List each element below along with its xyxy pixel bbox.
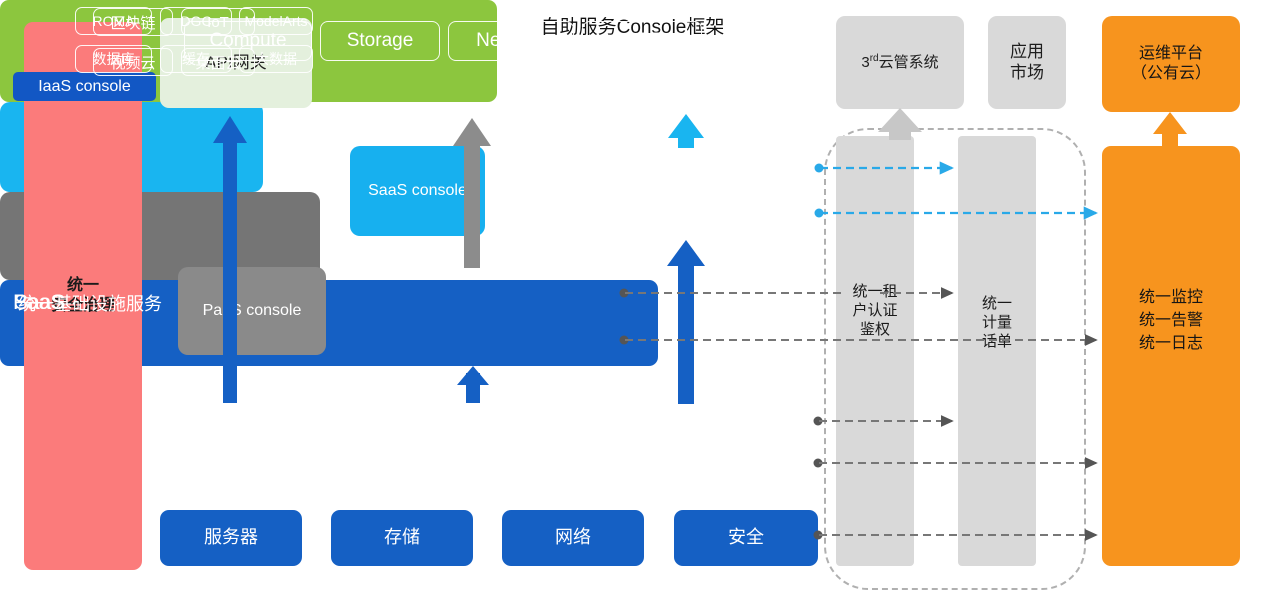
iaas-console-button[interactable]: IaaS console: [13, 72, 156, 101]
infra-tag-compute: Compute: [184, 21, 312, 61]
third-party-superscript: rd: [870, 53, 879, 64]
third-party-label: 3rd云管系统: [861, 53, 938, 72]
tenant-auth-line-3: 鉴权: [852, 320, 897, 339]
paas-tag-roma: ROMA: [75, 7, 152, 35]
app-market-line-1: 应用: [1010, 42, 1044, 63]
metering-line-3: 话单: [982, 332, 1012, 351]
paas-console-button[interactable]: PaaS console: [178, 267, 326, 355]
saas-console-button[interactable]: SaaS console: [350, 146, 485, 236]
orange-up-arrow-to-ops-platform: [1153, 112, 1187, 148]
paas-tag-database: 数据库: [75, 45, 152, 73]
third-party-cloud-management-box: 3rd云管系统: [836, 16, 964, 109]
blue-up-arrow-infra-to-paas: [457, 366, 489, 403]
monitor-line-1: 统一监控: [1139, 286, 1203, 309]
ops-platform-box: 运维平台 （公有云）: [1102, 16, 1240, 112]
architecture-diagram: 统一 安全治理 API网关 自助服务Console框架 IaaS console…: [0, 0, 1265, 605]
app-market-line-2: 市场: [1010, 63, 1044, 84]
cyan-up-arrow-saas-to-console: [668, 114, 704, 148]
ops-platform-line-1: 运维平台: [1131, 44, 1211, 64]
unified-metering-billing-column: 统一 计量 话单: [958, 136, 1036, 566]
metering-line-1: 统一: [982, 294, 1012, 313]
hardware-box-storage: 存储: [331, 510, 473, 566]
hardware-box-security: 安全: [674, 510, 818, 566]
infra-tag-network: Network: [448, 21, 574, 61]
infrastructure-label: 统一基础设施服务: [18, 290, 162, 316]
hardware-box-network: 网络: [502, 510, 644, 566]
tenant-auth-line-2: 户认证: [852, 301, 897, 320]
infra-tag-cce: CCE: [582, 21, 702, 61]
infra-tag-storage: Storage: [320, 21, 440, 61]
blue-up-arrow-infra-to-saas: [667, 240, 705, 404]
app-market-box: 应用 市场: [988, 16, 1066, 109]
tenant-auth-line-1: 统一租: [852, 282, 897, 301]
unified-tenant-auth-column: 统一租 户认证 鉴权: [836, 136, 914, 566]
third-party-rest: 云管系统: [879, 54, 939, 71]
monitor-line-3: 统一日志: [1139, 332, 1203, 355]
metering-line-2: 计量: [982, 313, 1012, 332]
third-party-prefix: 3: [861, 54, 869, 71]
hardware-box-server: 服务器: [160, 510, 302, 566]
unified-monitoring-column: 统一监控 统一告警 统一日志: [1102, 146, 1240, 566]
ops-platform-line-2: （公有云）: [1131, 64, 1211, 84]
monitor-line-2: 统一告警: [1139, 309, 1203, 332]
